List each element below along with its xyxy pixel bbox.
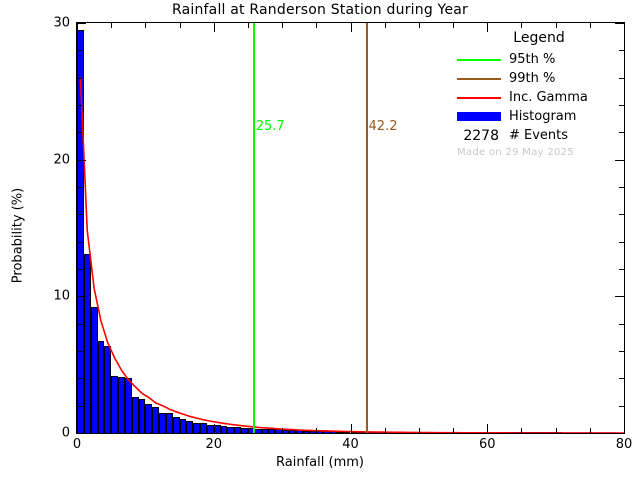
- y-tick-right: [619, 242, 624, 243]
- x-tick-top: [556, 23, 557, 28]
- y-tick-right: [619, 214, 624, 215]
- y-tick-right: [615, 23, 624, 24]
- legend-entry: 2278# Events: [455, 126, 623, 145]
- x-tick-top: [77, 23, 78, 32]
- chart-title: Rainfall at Randerson Station during Yea…: [0, 2, 640, 18]
- x-tick: [180, 428, 181, 433]
- y-tick: [77, 78, 82, 79]
- legend-label: Histogram: [503, 109, 576, 124]
- x-tick-top: [624, 23, 625, 32]
- x-tick: [556, 428, 557, 433]
- legend-line-swatch: [457, 78, 501, 80]
- y-tick-label: 10: [34, 289, 70, 304]
- 99th-percentile-label: 42.2: [369, 119, 398, 134]
- x-tick-top: [521, 23, 522, 28]
- y-tick-right: [619, 351, 624, 352]
- y-tick-right: [619, 406, 624, 407]
- x-tick-top: [419, 23, 420, 28]
- x-tick: [111, 428, 112, 433]
- legend-entries: 95th %99th %Inc. GammaHistogram2278# Eve…: [455, 50, 623, 145]
- x-tick: [487, 424, 488, 433]
- y-tick-right: [615, 433, 624, 434]
- x-tick: [351, 424, 352, 433]
- x-tick-label: 20: [205, 437, 222, 452]
- x-tick-label: 60: [479, 437, 496, 452]
- x-tick: [145, 428, 146, 433]
- y-tick: [77, 50, 82, 51]
- 95th-percentile-label: 25.7: [256, 119, 285, 134]
- x-tick-top: [145, 23, 146, 28]
- y-tick: [77, 105, 82, 106]
- y-tick: [77, 23, 86, 24]
- x-tick: [419, 428, 420, 433]
- x-tick: [624, 424, 625, 433]
- x-tick-label: 80: [616, 437, 633, 452]
- x-tick: [214, 424, 215, 433]
- y-tick: [77, 242, 82, 243]
- x-tick-label: 40: [342, 437, 359, 452]
- x-tick-top: [590, 23, 591, 28]
- x-tick: [453, 428, 454, 433]
- made-on-stamp: Made on 29 May 2025: [455, 147, 623, 158]
- 99th-percentile-line: [366, 23, 368, 433]
- x-tick: [248, 428, 249, 433]
- legend-key: [455, 50, 503, 69]
- legend-label: # Events: [503, 128, 568, 143]
- legend-box-swatch: [457, 112, 501, 121]
- x-tick-top: [316, 23, 317, 28]
- y-tick-right: [619, 187, 624, 188]
- y-axis-title: Probability (%): [11, 156, 26, 316]
- legend-label: 99th %: [503, 71, 555, 86]
- x-tick-top: [351, 23, 352, 32]
- legend-event-count: 2278: [455, 128, 499, 144]
- y-tick-right: [615, 160, 624, 161]
- y-tick: [77, 406, 82, 407]
- y-tick: [77, 214, 82, 215]
- legend-key: [455, 88, 503, 107]
- x-tick: [282, 428, 283, 433]
- legend-key: [455, 69, 503, 88]
- y-tick: [77, 160, 86, 161]
- legend: Legend 95th %99th %Inc. GammaHistogram22…: [455, 30, 623, 158]
- y-tick-right: [615, 296, 624, 297]
- 95th-percentile-line: [253, 23, 255, 433]
- y-tick: [77, 269, 82, 270]
- x-tick-label: 0: [73, 437, 81, 452]
- legend-label: 95th %: [503, 52, 555, 67]
- y-tick: [77, 351, 82, 352]
- x-tick-top: [282, 23, 283, 28]
- chart-canvas: Rainfall at Randerson Station during Yea…: [0, 0, 640, 480]
- legend-entry: Inc. Gamma: [455, 88, 623, 107]
- legend-entry: Histogram: [455, 107, 623, 126]
- legend-key: [455, 107, 503, 126]
- y-tick-label: 20: [34, 152, 70, 167]
- legend-title: Legend: [455, 30, 623, 46]
- x-tick: [521, 428, 522, 433]
- x-tick-top: [111, 23, 112, 28]
- y-tick-label: 30: [34, 16, 70, 31]
- x-tick-top: [453, 23, 454, 28]
- y-tick: [77, 433, 86, 434]
- x-tick-top: [180, 23, 181, 28]
- y-tick-right: [619, 324, 624, 325]
- x-tick: [590, 428, 591, 433]
- x-tick-top: [248, 23, 249, 28]
- legend-key: 2278: [455, 126, 503, 145]
- y-tick-right: [619, 378, 624, 379]
- y-tick: [77, 132, 82, 133]
- y-tick: [77, 187, 82, 188]
- y-tick: [77, 296, 86, 297]
- y-tick: [77, 324, 82, 325]
- x-tick-top: [214, 23, 215, 32]
- legend-line-swatch: [457, 97, 501, 99]
- legend-label: Inc. Gamma: [503, 90, 588, 105]
- x-tick: [385, 428, 386, 433]
- x-axis-title: Rainfall (mm): [0, 455, 640, 470]
- y-tick-right: [619, 269, 624, 270]
- x-tick: [77, 424, 78, 433]
- x-tick-top: [385, 23, 386, 28]
- legend-line-swatch: [457, 59, 501, 61]
- legend-entry: 95th %: [455, 50, 623, 69]
- y-tick-label: 0: [34, 426, 70, 441]
- y-tick: [77, 378, 82, 379]
- legend-entry: 99th %: [455, 69, 623, 88]
- x-tick: [316, 428, 317, 433]
